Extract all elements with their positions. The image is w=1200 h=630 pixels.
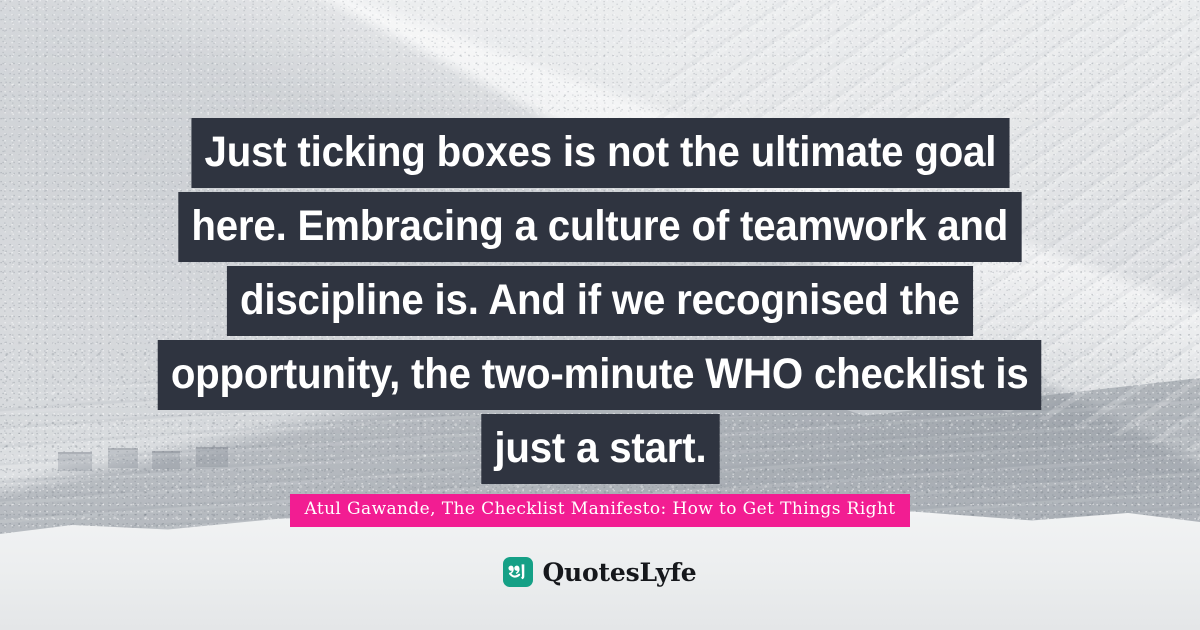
attribution: Atul Gawande, The Checklist Manifesto: H… — [0, 494, 1200, 527]
quote-text-block: Just ticking boxes is not the ultimate g… — [0, 118, 1200, 488]
quote-card: Just ticking boxes is not the ultimate g… — [0, 0, 1200, 630]
quote-marks-icon — [503, 557, 533, 587]
quote-line: discipline is. And if we recognised the — [227, 266, 973, 336]
quote-line: here. Embracing a culture of teamwork an… — [179, 192, 1022, 262]
quote-line: just a start. — [481, 414, 719, 484]
quoteslyfe-wordmark: QuotesLyfe — [542, 560, 696, 585]
card-content: Just ticking boxes is not the ultimate g… — [0, 0, 1200, 630]
quoteslyfe-logo[interactable]: QuotesLyfe — [0, 557, 1200, 587]
attribution-label: Atul Gawande, The Checklist Manifesto: H… — [290, 494, 909, 527]
quote-line: opportunity, the two-minute WHO checklis… — [158, 340, 1042, 410]
quote-line: Just ticking boxes is not the ultimate g… — [191, 118, 1009, 188]
